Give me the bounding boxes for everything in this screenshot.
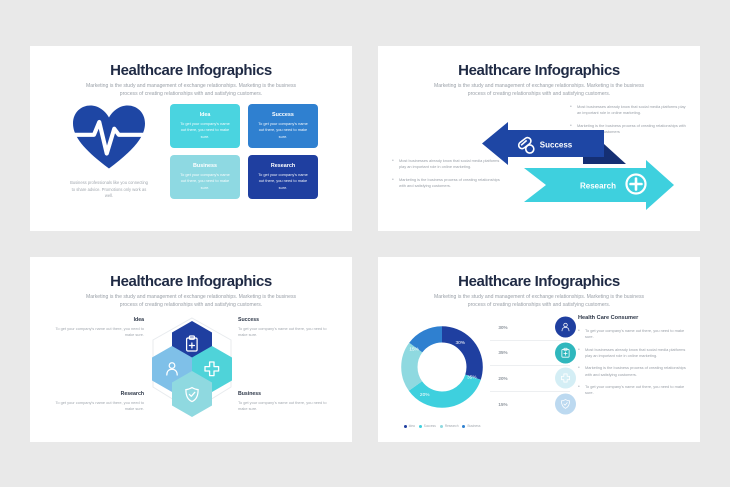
donut-label-success: 35%	[467, 375, 477, 381]
label-title: Idea	[52, 317, 144, 323]
slide-4-text-block: Health Care Consumer To get your company…	[578, 315, 686, 403]
bullet-item: Most businesses already know that social…	[392, 158, 502, 171]
label-title: Business	[238, 391, 330, 397]
card-business-title: Business	[193, 163, 217, 169]
shield-check-icon[interactable]	[555, 394, 576, 415]
legend-item-idea: Idea	[404, 424, 415, 428]
label-title: Research	[52, 391, 144, 397]
legend-swatch	[404, 425, 407, 428]
slide-2-title: Healthcare Infographics	[378, 62, 700, 79]
label-desc: To get your company's name out there, yo…	[52, 326, 144, 339]
slide-4-body: 30% 35% 20% 15% Idea Success	[378, 313, 700, 439]
legend-swatch	[440, 425, 443, 428]
label-title: Success	[238, 317, 330, 323]
slide-3-label-success: Success To get your company's name out t…	[238, 317, 330, 339]
slide-3-title: Healthcare Infographics	[30, 273, 352, 290]
slide-2-subtitle: Marketing is the study and management of…	[425, 83, 653, 99]
legend-swatch	[419, 425, 422, 428]
slide-grid: Healthcare Infographics Marketing is the…	[30, 46, 700, 442]
percentage-value: 15%	[490, 402, 516, 407]
percentage-row-3: 20%	[490, 366, 570, 392]
slide-3-label-idea: Idea To get your company's name out ther…	[52, 317, 144, 339]
bullet-item: To get your company's name out there, yo…	[578, 328, 686, 341]
clipboard-plus-icon[interactable]	[555, 342, 576, 363]
legend-item-business: Business	[462, 424, 480, 428]
label-desc: To get your company's name out there, yo…	[238, 326, 330, 339]
slide-1-caption: Business professionals like you connecti…	[60, 180, 158, 200]
user-icon[interactable]	[555, 317, 576, 338]
percentage-row-2: 35%	[490, 341, 570, 367]
slide-2-arrows: Success Research	[478, 116, 688, 216]
percentage-value: 20%	[490, 376, 516, 381]
slide-3-label-business: Business To get your company's name out …	[238, 391, 330, 413]
legend-swatch	[462, 425, 465, 428]
label-desc: To get your company's name out there, yo…	[52, 400, 144, 413]
slide-2-body: Most businesses already know that social…	[378, 102, 700, 227]
slide-1-body: Business professionals like you connecti…	[30, 104, 352, 224]
card-idea-desc: To get your company's name out there, yo…	[177, 121, 233, 140]
card-research-title: Research	[271, 163, 295, 169]
donut-label-business: 15%	[409, 347, 419, 353]
legend-label: Success	[424, 424, 436, 428]
slide-1-icon-block: Business professionals like you connecti…	[60, 104, 158, 200]
arrow-research-label: Research	[580, 182, 616, 191]
donut-legend: Idea Success Research Business	[394, 424, 490, 428]
label-desc: To get your company's name out there, yo…	[238, 400, 330, 413]
heart-pulse-icon	[70, 104, 148, 170]
slide-1[interactable]: Healthcare Infographics Marketing is the…	[30, 46, 352, 231]
slide-3-hexagons	[142, 315, 242, 419]
slide-4[interactable]: Healthcare Infographics Marketing is the…	[378, 257, 700, 442]
medical-cross-icon[interactable]	[555, 368, 576, 389]
slide-2-left-bullets: Most businesses already know that social…	[392, 158, 502, 195]
bullet-item: Marketing is the business process of cre…	[392, 177, 502, 190]
card-business-desc: To get your company's name out there, yo…	[177, 172, 233, 191]
donut-label-idea: 30%	[455, 340, 465, 346]
card-idea-title: Idea	[200, 112, 211, 118]
legend-label: Idea	[409, 424, 415, 428]
bullet-item: Marketing is the business process of cre…	[578, 365, 686, 378]
slide-2[interactable]: Healthcare Infographics Marketing is the…	[378, 46, 700, 231]
bullet-item: Most businesses already know that social…	[578, 347, 686, 360]
slide-1-title: Healthcare Infographics	[30, 62, 352, 79]
slide-1-cards: Idea To get your company's name out ther…	[170, 104, 318, 199]
card-success-desc: To get your company's name out there, yo…	[255, 121, 311, 140]
donut-label-research: 20%	[420, 392, 430, 398]
slide-3-body: Idea To get your company's name out ther…	[30, 315, 352, 437]
percentage-row-4: 15%	[490, 392, 570, 418]
percentage-rows: 30% 35%	[490, 315, 570, 417]
slide-1-subtitle: Marketing is the study and management of…	[77, 83, 305, 99]
slide-3-subtitle: Marketing is the study and management of…	[77, 294, 305, 310]
legend-item-research: Research	[440, 424, 459, 428]
card-research[interactable]: Research To get your company's name out …	[248, 155, 318, 199]
slide-4-subtitle: Marketing is the study and management of…	[425, 294, 653, 310]
medical-cross-icon	[627, 175, 646, 194]
legend-label: Business	[467, 424, 480, 428]
bullet-item: Most businesses already know that social…	[570, 104, 686, 117]
card-success[interactable]: Success To get your company's name out t…	[248, 104, 318, 148]
slide-4-title: Healthcare Infographics	[378, 273, 700, 290]
slide-3-label-research: Research To get your company's name out …	[52, 391, 144, 413]
legend-item-success: Success	[419, 424, 436, 428]
card-success-title: Success	[272, 112, 294, 118]
percentage-row-1: 30%	[490, 315, 570, 341]
slide-4-heading: Health Care Consumer	[578, 315, 686, 321]
percentage-value: 35%	[490, 350, 516, 355]
card-research-desc: To get your company's name out there, yo…	[255, 172, 311, 191]
bullet-item: To get your company's name out there, yo…	[578, 384, 686, 397]
percentage-value: 30%	[490, 325, 516, 330]
slide-4-bullets: To get your company's name out there, yo…	[578, 328, 686, 397]
card-idea[interactable]: Idea To get your company's name out ther…	[170, 104, 240, 148]
donut-chart: 30% 35% 20% 15% Idea Success	[394, 319, 490, 428]
slide-3[interactable]: Healthcare Infographics Marketing is the…	[30, 257, 352, 442]
legend-label: Research	[445, 424, 459, 428]
arrow-success-label: Success	[540, 141, 573, 150]
card-business[interactable]: Business To get your company's name out …	[170, 155, 240, 199]
